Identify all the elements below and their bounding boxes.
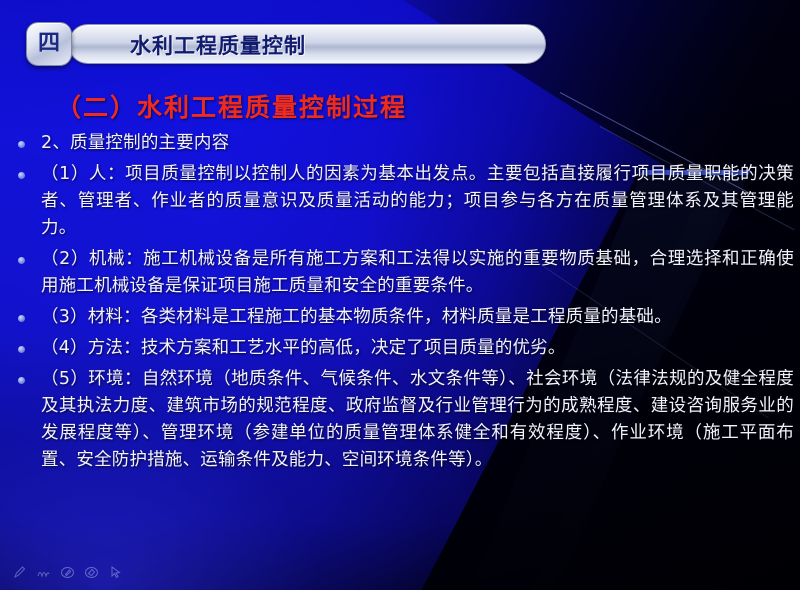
slide-header: 四 水利工程质量控制 — [26, 22, 546, 66]
bullet-dot-icon — [18, 141, 25, 148]
bullet-text: （5）环境：自然环境（地质条件、气候条件、水文条件等）、社会环境（法律法规的及健… — [41, 366, 794, 474]
bullet-text: （2）机械：施工机械设备是所有施工方案和工法得以实施的重要物质基础，合理选择和正… — [41, 246, 794, 300]
bullet-text: （4）方法：技术方案和工艺水平的高低，决定了项目质量的优劣。 — [41, 335, 794, 362]
bullet-text: 2、质量控制的主要内容 — [41, 130, 794, 157]
pen-icon[interactable] — [12, 565, 27, 580]
bullet-item-factor-methods: （4）方法：技术方案和工艺水平的高低，决定了项目质量的优劣。 — [14, 335, 794, 362]
presentation-slide: 四 水利工程质量控制 （二）水利工程质量控制过程 2、质量控制的主要内容 （1）… — [0, 0, 800, 590]
bullet-item-factor-machinery: （2）机械：施工机械设备是所有施工方案和工法得以实施的重要物质基础，合理选择和正… — [14, 246, 794, 300]
bullet-dot-icon — [18, 377, 25, 384]
pointer-icon[interactable] — [108, 565, 123, 580]
page-title: 水利工程质量控制 — [130, 30, 306, 60]
bullet-dot-icon — [18, 346, 25, 353]
bullet-dot-icon — [18, 315, 25, 322]
slide-body: 2、质量控制的主要内容 （1）人：项目质量控制以控制人的因素为基本出发点。主要包… — [14, 130, 794, 478]
bullet-dot-icon — [18, 172, 25, 179]
bullet-item-factor-environment: （5）环境：自然环境（地质条件、气候条件、水文条件等）、社会环境（法律法规的及健… — [14, 366, 794, 474]
bullet-dot-icon — [18, 257, 25, 264]
section-number-text: 四 — [38, 33, 60, 55]
eraser-icon[interactable] — [60, 565, 75, 580]
slideshow-nav-toolbar[interactable] — [12, 565, 123, 580]
bullet-item-factor-people: （1）人：项目质量控制以控制人的因素为基本出发点。主要包括直接履行项目质量职能的… — [14, 161, 794, 242]
bullet-text: （3）材料：各类材料是工程施工的基本物质条件，材料质量是工程质量的基础。 — [41, 304, 794, 331]
slide-subtitle: （二）水利工程质量控制过程 — [56, 88, 407, 124]
bullet-item-factor-materials: （3）材料：各类材料是工程施工的基本物质条件，材料质量是工程质量的基础。 — [14, 304, 794, 331]
bullet-text: （1）人：项目质量控制以控制人的因素为基本出发点。主要包括直接履行项目质量职能的… — [41, 161, 794, 242]
bullet-item-content-overview: 2、质量控制的主要内容 — [14, 130, 794, 157]
section-number-badge: 四 — [26, 22, 72, 66]
menu-icon[interactable] — [84, 565, 99, 580]
marker-icon[interactable] — [36, 565, 51, 580]
